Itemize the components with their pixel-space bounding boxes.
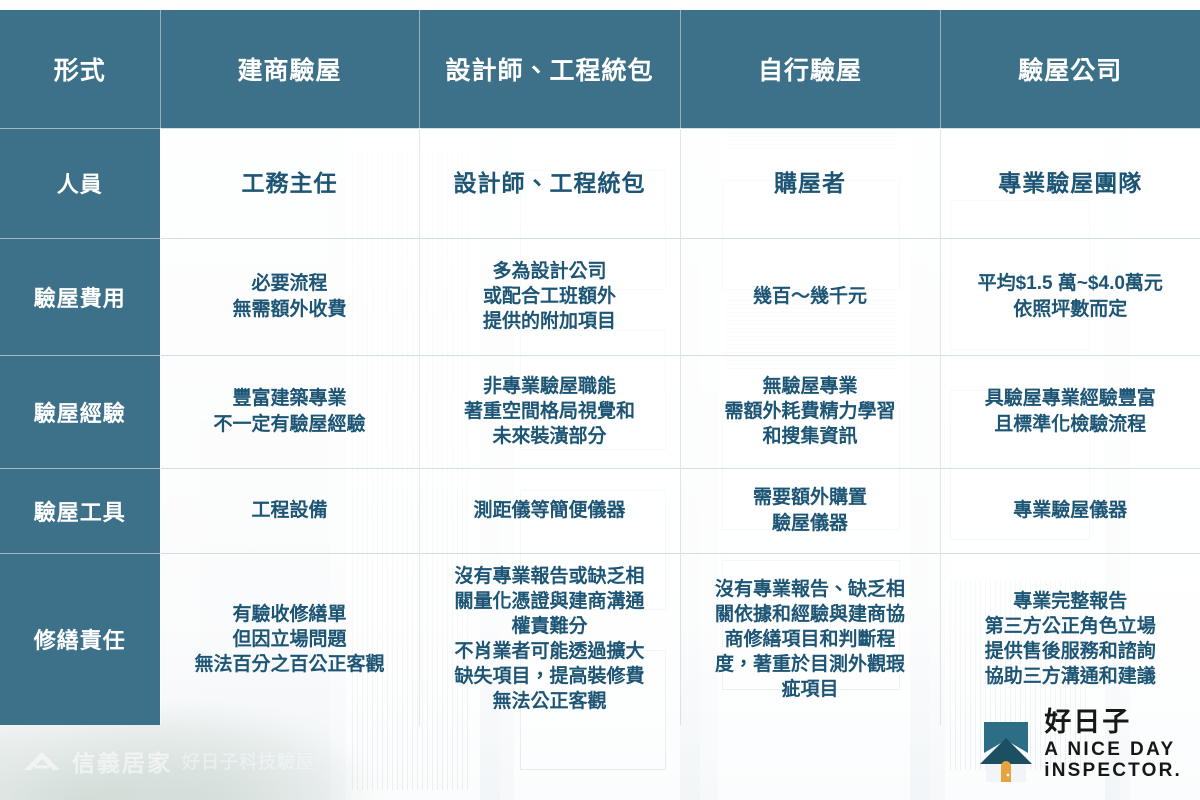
row-label-responsibility: 修繕責任 (0, 553, 160, 725)
row-label-personnel: 人員 (0, 128, 160, 238)
cell-experience-self: 無驗屋專業 需額外耗費精力學習 和搜集資訊 (680, 355, 940, 468)
header-cell-designer: 設計師、工程統包 (419, 10, 680, 128)
cell-responsibility-self: 沒有專業報告、缺乏相 關依據和經驗與建商協 商修繕項目和判斷程 度，著重於目測外… (680, 553, 940, 725)
comparison-infographic: 形式 建商驗屋 設計師、工程統包 自行驗屋 驗屋公司 人員 工務主任 設計師、工… (0, 0, 1200, 800)
table-row: 修繕責任 有驗收修繕單 但因立場問題 無法百分之百公正客觀 沒有專業報告或缺乏相… (0, 553, 1200, 725)
brand-wordmark: 好日子 A NICE DAY iNSPECTOR. (1044, 709, 1182, 782)
cell-experience-designer: 非專業驗屋職能 著重空間格局視覺和 未來裝潢部分 (419, 355, 680, 468)
cell-responsibility-company: 專業完整報告 第三方公正角色立場 提供售後服務和諮詢 協助三方溝通和建議 (940, 553, 1200, 725)
table-header: 形式 建商驗屋 設計師、工程統包 自行驗屋 驗屋公司 (0, 10, 1200, 128)
cell-responsibility-designer: 沒有專業報告或缺乏相 關量化憑證與建商溝通 權責難分 不肖業者可能透過擴大 缺失… (419, 553, 680, 725)
row-label-experience: 驗屋經驗 (0, 355, 160, 468)
cell-personnel-developer: 工務主任 (160, 128, 419, 238)
cell-experience-company: 具驗屋專業經驗豐富 且標準化檢驗流程 (940, 355, 1200, 468)
cell-tools-developer: 工程設備 (160, 468, 419, 553)
table-row: 驗屋工具 工程設備 測距儀等簡便儀器 需要額外購置 驗屋儀器 專業驗屋儀器 (0, 468, 1200, 553)
door-icon (1001, 761, 1011, 782)
cell-tools-self: 需要額外購置 驗屋儀器 (680, 468, 940, 553)
cell-tools-designer: 測距儀等簡便儀器 (419, 468, 680, 553)
cell-responsibility-developer: 有驗收修繕單 但因立場問題 無法百分之百公正客觀 (160, 553, 419, 725)
cell-fee-self: 幾百～幾千元 (680, 238, 940, 355)
cell-personnel-company: 專業驗屋團隊 (940, 128, 1200, 238)
table-row: 驗屋費用 必要流程 無需額外收費 多為設計公司 或配合工班額外 提供的附加項目 … (0, 238, 1200, 355)
brand-logo: 好日子 A NICE DAY iNSPECTOR. (978, 709, 1182, 782)
row-label-fee: 驗屋費用 (0, 238, 160, 355)
cell-tools-company: 專業驗屋儀器 (940, 468, 1200, 553)
house-roof-icon (22, 750, 62, 772)
partner-name: 信義居家 (72, 744, 172, 778)
cell-fee-designer: 多為設計公司 或配合工班額外 提供的附加項目 (419, 238, 680, 355)
partner-watermark: 信義居家 好日子科技驗屋 (22, 744, 315, 778)
brand-name-en-line2: iNSPECTOR. (1044, 761, 1182, 780)
table-row: 人員 工務主任 設計師、工程統包 購屋者 專業驗屋團隊 (0, 128, 1200, 238)
cell-personnel-designer: 設計師、工程統包 (419, 128, 680, 238)
brand-name-en-line1: A NICE DAY (1044, 740, 1182, 759)
header-row: 形式 建商驗屋 設計師、工程統包 自行驗屋 驗屋公司 (0, 10, 1200, 128)
comparison-table: 形式 建商驗屋 設計師、工程統包 自行驗屋 驗屋公司 人員 工務主任 設計師、工… (0, 10, 1200, 725)
table-body: 人員 工務主任 設計師、工程統包 購屋者 專業驗屋團隊 驗屋費用 必要流程 (0, 128, 1200, 725)
row-label-tools: 驗屋工具 (0, 468, 160, 553)
table-row: 驗屋經驗 豐富建築專業 不一定有驗屋經驗 非專業驗屋職能 著重空間格局視覺和 未… (0, 355, 1200, 468)
cell-experience-developer: 豐富建築專業 不一定有驗屋經驗 (160, 355, 419, 468)
house-bookmark-icon (978, 720, 1034, 782)
cell-fee-developer: 必要流程 無需額外收費 (160, 238, 419, 355)
header-cell-self: 自行驗屋 (680, 10, 940, 128)
cell-fee-company: 平均$1.5 萬~$4.0萬元 依照坪數而定 (940, 238, 1200, 355)
header-cell-form: 形式 (0, 10, 160, 128)
product-name: 好日子科技驗屋 (182, 748, 315, 774)
brand-name-cn: 好日子 (1044, 709, 1182, 736)
cell-personnel-self: 購屋者 (680, 128, 940, 238)
header-cell-developer: 建商驗屋 (160, 10, 419, 128)
header-cell-company: 驗屋公司 (940, 10, 1200, 128)
